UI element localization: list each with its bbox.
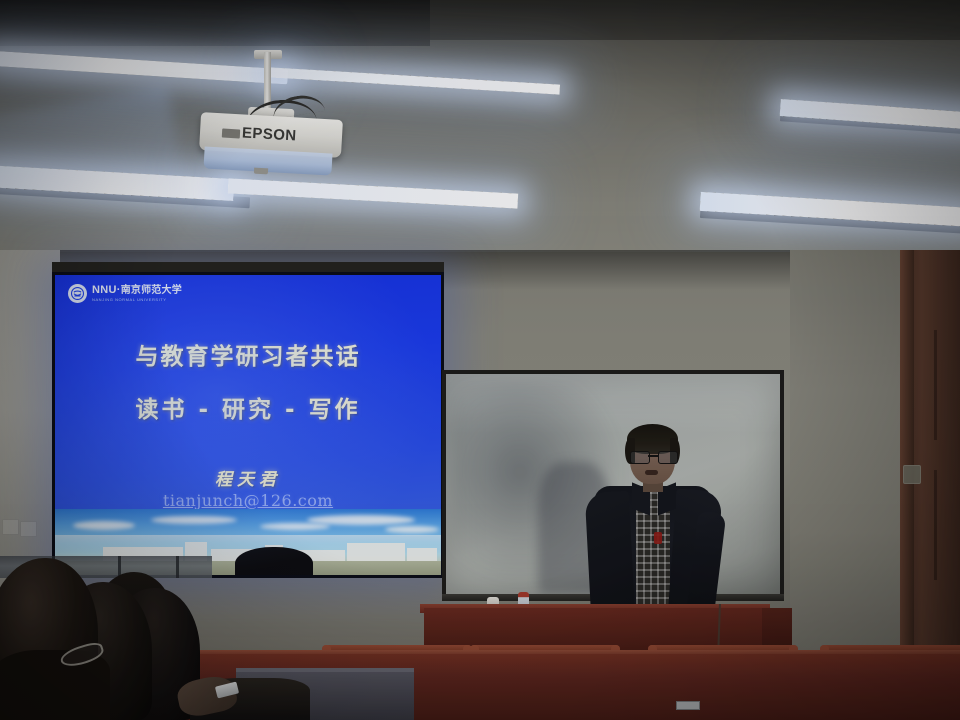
campus-building — [347, 543, 405, 562]
glasses-icon — [629, 451, 677, 462]
ceiling-projector: EPSON — [186, 52, 346, 172]
door-panel-seam-1 — [934, 330, 937, 440]
projection-screen: NNU·南京师范大学 NANJING NORMAL UNIVERSITY 与教育… — [52, 272, 444, 578]
slide-subtitle: 读书 - 研究 - 写作 — [55, 390, 441, 424]
window-mullion — [176, 556, 179, 578]
ceiling-shadow-right — [430, 0, 960, 40]
wall-outlet-2[interactable] — [20, 521, 37, 537]
projector-brand-label: EPSON — [242, 124, 297, 144]
ceiling-shadow-left — [0, 0, 430, 46]
cloud — [385, 526, 439, 533]
lecture-hall-photo: EPSON — [0, 0, 960, 720]
glasses-lens-left — [630, 451, 650, 464]
nnu-emblem-icon — [68, 284, 87, 303]
cloud — [260, 523, 330, 530]
ceiling: EPSON — [0, 0, 960, 262]
table-label-tag — [676, 701, 700, 710]
wall-outlet-1[interactable] — [2, 519, 19, 535]
audience-head-silhouette — [235, 547, 313, 575]
speaker-figure — [588, 420, 718, 620]
speaker-mouth — [645, 470, 658, 475]
projector-foot — [254, 168, 268, 175]
cloud — [151, 516, 237, 524]
slide-title: 与教育学研习者共话 — [55, 337, 441, 371]
projector-cable-2 — [271, 92, 325, 119]
slide-author-name: 程天君 — [55, 465, 441, 490]
light-switch-plate[interactable] — [903, 465, 921, 484]
cloud — [73, 521, 135, 530]
cloud — [307, 515, 415, 525]
university-logo-text: NNU·南京师范大学 NANJING NORMAL UNIVERSITY — [92, 285, 182, 302]
campus-building — [407, 548, 437, 562]
glasses-bridge — [648, 455, 658, 457]
speaker-lapel-pin — [654, 532, 662, 544]
presentation-slide: NNU·南京师范大学 NANJING NORMAL UNIVERSITY 与教育… — [55, 275, 441, 575]
projector-logo-icon — [222, 129, 240, 139]
audience-person-body — [0, 650, 110, 720]
logo-name-en: NANJING NORMAL UNIVERSITY — [92, 298, 182, 302]
screen-bezel-top — [52, 262, 444, 272]
speaker-jacket-left — [585, 491, 636, 621]
logo-name-cn: 南京师范大学 — [121, 285, 182, 296]
university-logo: NNU·南京师范大学 NANJING NORMAL UNIVERSITY — [68, 284, 182, 303]
logo-primary-line: NNU·南京师范大学 — [92, 285, 182, 296]
glasses-lens-right — [658, 451, 678, 464]
door-panel-seam-2 — [934, 470, 937, 580]
slide-author-email[interactable]: tianjunch@126.com — [55, 491, 441, 510]
ceiling-light-3b — [228, 178, 518, 208]
logo-abbrev: NNU — [92, 284, 117, 296]
